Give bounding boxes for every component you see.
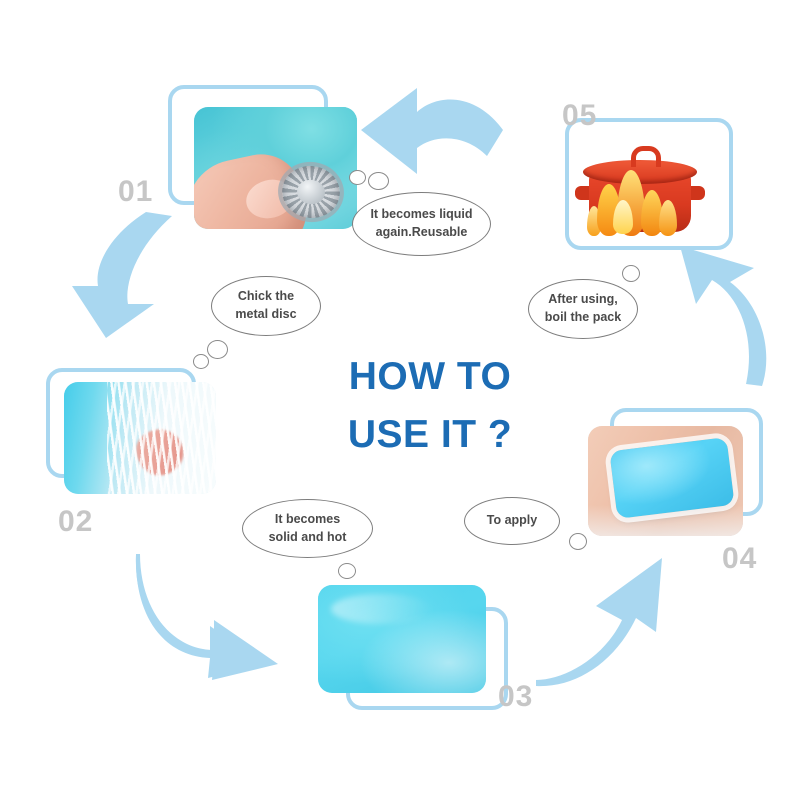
step-number-02: 02 [58, 505, 93, 539]
red-pot-on-flames-photo [575, 144, 705, 236]
bubble-tail-dot [622, 265, 640, 282]
pack-applied-on-arm-photo [588, 426, 743, 536]
step-03-image-panel [318, 585, 528, 710]
step-04-image-panel [588, 408, 763, 548]
step-01-image-panel [168, 85, 358, 230]
bubble-boil-the-pack: After using, boil the pack [528, 279, 638, 339]
gel-crystallizing-photo [64, 382, 216, 494]
step-number-01: 01 [118, 175, 153, 209]
arrow-02-to-03-icon [136, 552, 286, 682]
step-number-03: 03 [498, 680, 533, 714]
arrow-01-to-02-icon [72, 212, 192, 342]
bubble-tail-dot [193, 354, 209, 369]
arrow-03-to-04-icon [534, 548, 674, 688]
step-02-image-panel [46, 368, 216, 508]
bubble-solid-and-hot: It becomes solid and hot [242, 499, 373, 558]
bubble-tail-dot [207, 340, 228, 359]
solid-heat-pack-photo [318, 585, 486, 693]
bubble-liquid-again: It becomes liquid again.Reusable [352, 192, 491, 256]
arrow-02-to-03-head-icon [136, 552, 286, 682]
step-number-04: 04 [722, 542, 757, 576]
step-number-05: 05 [562, 99, 597, 133]
bubble-tail-dot [338, 563, 356, 579]
bubble-click-disc: Chick the metal disc [211, 276, 321, 336]
bubble-tail-dot [569, 533, 587, 550]
page-title: HOW TO USE IT ? [280, 348, 580, 463]
bubble-tail-dot [349, 170, 366, 185]
bubble-tail-dot [368, 172, 389, 190]
thumb-clicking-metal-disc-photo [194, 107, 357, 229]
bubble-to-apply: To apply [464, 497, 560, 545]
infographic-canvas: 01 02 03 04 [0, 0, 800, 800]
